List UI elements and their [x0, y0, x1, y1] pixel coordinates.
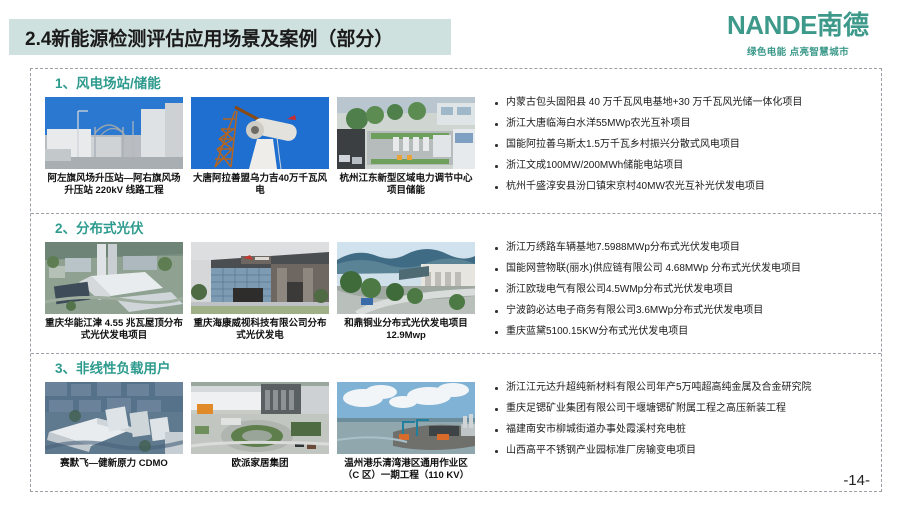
case-card[interactable]: 重庆海康威视科技有限公司分布式光伏发电 — [191, 242, 329, 342]
bullet-item: 山西高平不锈钢产业园标准厂房输变电项目 — [493, 445, 881, 457]
section-1-gallery: 阿左旗风场升压站—阿右旗风场升压站 220kV 线路工程 — [31, 93, 479, 202]
logo-wordmark: NANDE南德 — [708, 12, 888, 39]
case-caption: 阿左旗风场升压站—阿右旗风场升压站 220kV 线路工程 — [45, 173, 183, 197]
section-wind-storage: 1、风电场站/储能 — [31, 69, 881, 214]
case-card[interactable]: 和鼎铜业分布式光伏发电项目12.9Mwp — [337, 242, 475, 342]
case-caption: 欧派家居集团 — [191, 458, 329, 470]
section-2-heading: 2、分布式光伏 — [31, 220, 881, 238]
office-building-photo — [191, 242, 329, 314]
section-nonlinear-load: 3、非线性负载用户 — [31, 354, 881, 493]
bullet-item: 浙江江元达升超纯新材料有限公司年产5万吨超高纯金属及合金研究院 — [493, 382, 881, 394]
slide-root: 2.4新能源检测评估应用场景及案例（部分） NANDE南德 绿色电能 点亮智慧城… — [0, 0, 906, 513]
case-card[interactable]: 温州港乐清湾港区通用作业区（C 区）一期工程（110 KV） — [337, 382, 475, 482]
case-caption: 重庆海康威视科技有限公司分布式光伏发电 — [191, 318, 329, 342]
section-3-gallery: 赛默飞—健新原力 CDMO — [31, 378, 479, 482]
energy-storage-aerial-photo — [337, 97, 475, 169]
case-card[interactable]: 赛默飞—健新原力 CDMO — [45, 382, 183, 482]
section-2-gallery: 重庆华能江津 4.55 兆瓦屋顶分布式光伏发电项目 — [31, 238, 479, 347]
bullet-item: 重庆足锶矿业集团有限公司干堰塘锶矿附属工程之高压新装工程 — [493, 403, 881, 415]
case-card[interactable]: 欧派家居集团 — [191, 382, 329, 482]
bullet-item: 内蒙古包头固阳县 40 万千瓦风电基地+30 万千瓦风光储一体化项目 — [493, 97, 881, 109]
section-1-heading: 1、风电场站/储能 — [31, 75, 881, 93]
section-2-bullets: 浙江万绣路车辆基地7.5988MWp分布式光伏发电项目 国能网营物联(丽水)供应… — [479, 238, 881, 347]
bullet-item: 浙江欧珑电气有限公司4.5WMp分布式光伏发电项目 — [493, 284, 881, 296]
case-caption: 温州港乐清湾港区通用作业区（C 区）一期工程（110 KV） — [337, 458, 475, 482]
bullet-item: 国能阿拉善乌斯太1.5万千瓦乡村振兴分散式风电项目 — [493, 139, 881, 151]
logo-text-en: NANDE — [727, 10, 817, 40]
substation-photo — [45, 97, 183, 169]
campus-aerial-photo — [191, 382, 329, 454]
logo-text-cn: 南德 — [817, 10, 869, 40]
case-caption: 杭州江东新型区域电力调节中心项目储能 — [337, 173, 475, 197]
case-card[interactable]: 重庆华能江津 4.55 兆瓦屋顶分布式光伏发电项目 — [45, 242, 183, 342]
bullet-item: 浙江大唐临海白水洋55MWp农光互补项目 — [493, 118, 881, 130]
case-card[interactable]: 杭州江东新型区域电力调节中心项目储能 — [337, 97, 475, 197]
wind-turbine-photo — [191, 97, 329, 169]
bullet-item: 国能网营物联(丽水)供应链有限公司 4.68MWp 分布式光伏发电项目 — [493, 263, 881, 275]
industrial-park-photo — [337, 242, 475, 314]
case-caption: 大唐阿拉善盟乌力吉40万千瓦风电 — [191, 173, 329, 197]
case-caption: 重庆华能江津 4.55 兆瓦屋顶分布式光伏发电项目 — [45, 318, 183, 342]
case-card[interactable]: 大唐阿拉善盟乌力吉40万千瓦风电 — [191, 97, 329, 197]
company-logo: NANDE南德 绿色电能 点亮智慧城市 — [708, 12, 888, 58]
bullet-item: 福建南安市柳城街道办事处霞溪村充电桩 — [493, 424, 881, 436]
content-frame: 1、风电场站/储能 — [30, 68, 882, 492]
bullet-item: 宁波韵必达电子商务有限公司3.6MWp分布式光伏发电项目 — [493, 305, 881, 317]
section-3-heading: 3、非线性负载用户 — [31, 360, 881, 378]
factory-rendering-photo — [45, 382, 183, 454]
power-plant-aerial-photo — [45, 242, 183, 314]
logo-tagline: 绿色电能 点亮智慧城市 — [708, 44, 888, 58]
bullet-item: 重庆蓝黛5100.15KW分布式光伏发电项目 — [493, 326, 881, 338]
bullet-item: 浙江文成100MW/200MWh储能电站项目 — [493, 160, 881, 172]
slide-title-bar: 2.4新能源检测评估应用场景及案例（部分） — [9, 19, 451, 55]
section-1-bullets: 内蒙古包头固阳县 40 万千瓦风电基地+30 万千瓦风光储一体化项目 浙江大唐临… — [479, 93, 881, 202]
case-caption: 和鼎铜业分布式光伏发电项目12.9Mwp — [337, 318, 475, 342]
section-3-bullets: 浙江江元达升超纯新材料有限公司年产5万吨超高纯金属及合金研究院 重庆足锶矿业集团… — [479, 378, 881, 482]
case-caption: 赛默飞—健新原力 CDMO — [45, 458, 183, 470]
bullet-item: 杭州千盛淳安县汾口镇宋京村40MW农光互补光伏发电项目 — [493, 181, 881, 193]
page-number: -14- — [843, 472, 870, 489]
case-card[interactable]: 阿左旗风场升压站—阿右旗风场升压站 220kV 线路工程 — [45, 97, 183, 197]
page-title: 2.4新能源检测评估应用场景及案例（部分） — [9, 24, 393, 51]
port-aerial-photo — [337, 382, 475, 454]
section-distributed-pv: 2、分布式光伏 — [31, 214, 881, 354]
bullet-item: 浙江万绣路车辆基地7.5988MWp分布式光伏发电项目 — [493, 242, 881, 254]
